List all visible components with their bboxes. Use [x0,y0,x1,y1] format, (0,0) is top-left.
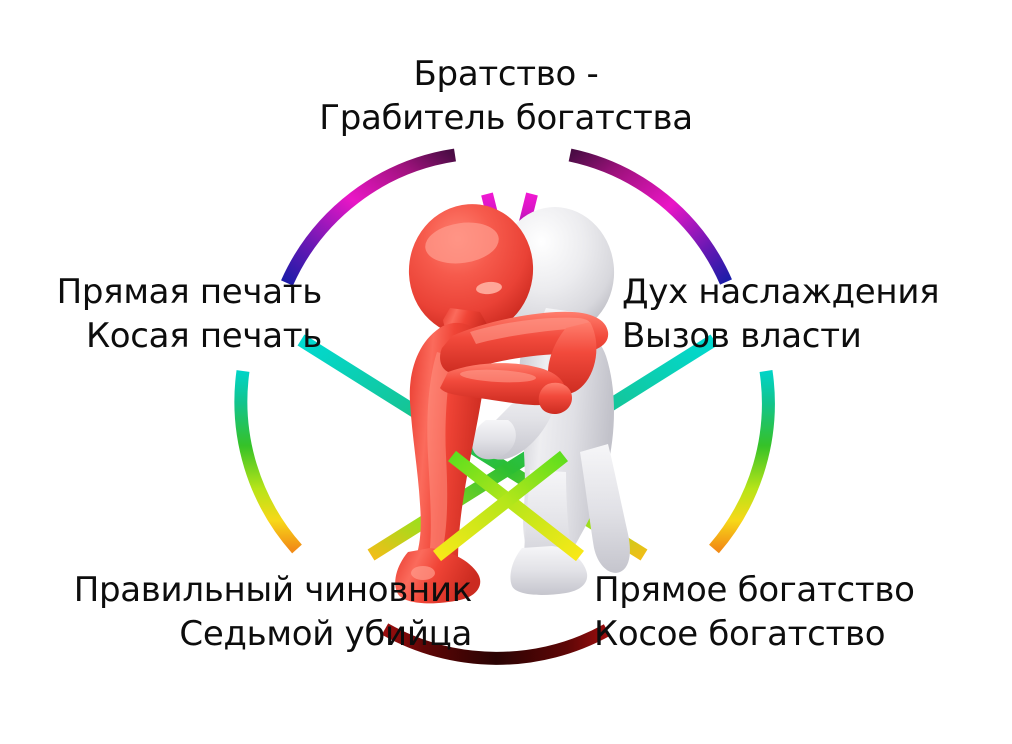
left-label-line-2: Косая печать [57,314,322,358]
diagram-canvas: Братство - Грабитель богатства Прямая пе… [0,0,1012,744]
top-label: Братство - Грабитель богатства [319,52,692,140]
bottom-right-label: Прямое богатство Косое богатство [594,568,915,656]
arc-right-icon [714,371,768,549]
right-label-line-1: Дух наслаждения [622,270,939,314]
bottom-left-label-line-1: Правильный чиновник [74,568,472,612]
figures-group [395,196,630,603]
right-label-line-2: Вызов власти [622,314,939,358]
bottom-right-label-line-2: Косое богатство [594,612,915,656]
bottom-left-label: Правильный чиновник Седьмой убийца [74,568,472,656]
arc-left-icon [241,371,297,549]
top-label-line-2: Грабитель богатства [319,96,692,140]
bottom-left-label-line-2: Седьмой убийца [74,612,472,656]
top-label-line-1: Братство - [319,52,692,96]
bottom-right-label-line-1: Прямое богатство [594,568,915,612]
left-label-line-1: Прямая печать [57,270,322,314]
right-label: Дух наслаждения Вызов власти [622,270,939,358]
left-label: Прямая печать Косая печать [57,270,322,358]
